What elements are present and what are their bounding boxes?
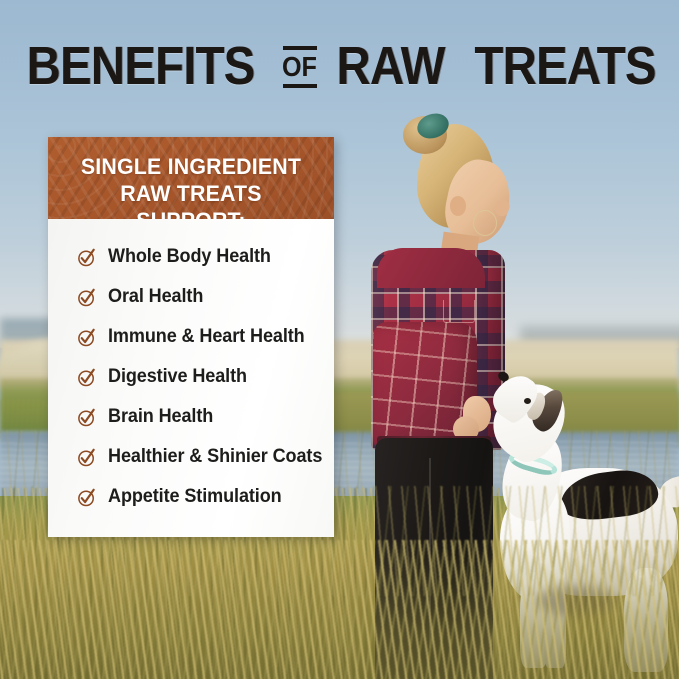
woman-shirt-shoulder xyxy=(377,248,485,288)
benefit-label: Immune & Heart Health xyxy=(108,326,305,348)
check-circle-icon xyxy=(76,407,97,428)
title-word-treats: TREATS xyxy=(474,39,655,93)
title-word-raw: RAW xyxy=(336,39,444,93)
list-item: Brain Health xyxy=(48,397,334,437)
check-circle-icon xyxy=(76,327,97,348)
benefit-label: Digestive Health xyxy=(108,366,247,388)
foreground-grass-overlay xyxy=(0,540,679,679)
check-circle-icon xyxy=(76,487,97,508)
title-of-bar-top xyxy=(283,46,317,50)
list-item: Immune & Heart Health xyxy=(48,317,334,357)
check-circle-icon xyxy=(76,287,97,308)
benefits-list: Whole Body Health Oral Health Immune & H… xyxy=(48,219,334,537)
dog-eye xyxy=(524,398,531,404)
list-item: Digestive Health xyxy=(48,357,334,397)
check-circle-icon xyxy=(76,447,97,468)
title-connector-of: OF xyxy=(280,46,319,88)
woman-earring xyxy=(473,210,497,236)
poster-title: BENEFITS OF RAW TREATS xyxy=(0,36,679,96)
poster-canvas: BENEFITS OF RAW TREATS SINGLE INGREDIENT… xyxy=(0,0,679,679)
list-item: Appetite Stimulation xyxy=(48,477,334,517)
benefits-card: SINGLE INGREDIENT RAW TREATS SUPPORT: Wh… xyxy=(48,137,334,537)
benefit-label: Appetite Stimulation xyxy=(108,486,282,508)
title-of-bar-bottom xyxy=(283,84,317,88)
title-word-benefits: BENEFITS xyxy=(27,39,255,93)
check-circle-icon xyxy=(76,367,97,388)
benefit-label: Brain Health xyxy=(108,406,213,428)
benefit-label: Oral Health xyxy=(108,286,203,308)
benefit-label: Healthier & Shinier Coats xyxy=(108,446,322,468)
list-item: Healthier & Shinier Coats xyxy=(48,437,334,477)
woman-ear xyxy=(450,196,466,216)
benefit-label: Whole Body Health xyxy=(108,246,271,268)
list-item: Whole Body Health xyxy=(48,237,334,277)
list-item: Oral Health xyxy=(48,277,334,317)
benefits-card-header: SINGLE INGREDIENT RAW TREATS SUPPORT: xyxy=(48,137,334,219)
woman-shirt-pocket xyxy=(443,300,475,323)
title-of-text: OF xyxy=(282,53,317,81)
check-circle-icon xyxy=(76,247,97,268)
card-header-line-1: SINGLE INGREDIENT xyxy=(66,153,316,180)
